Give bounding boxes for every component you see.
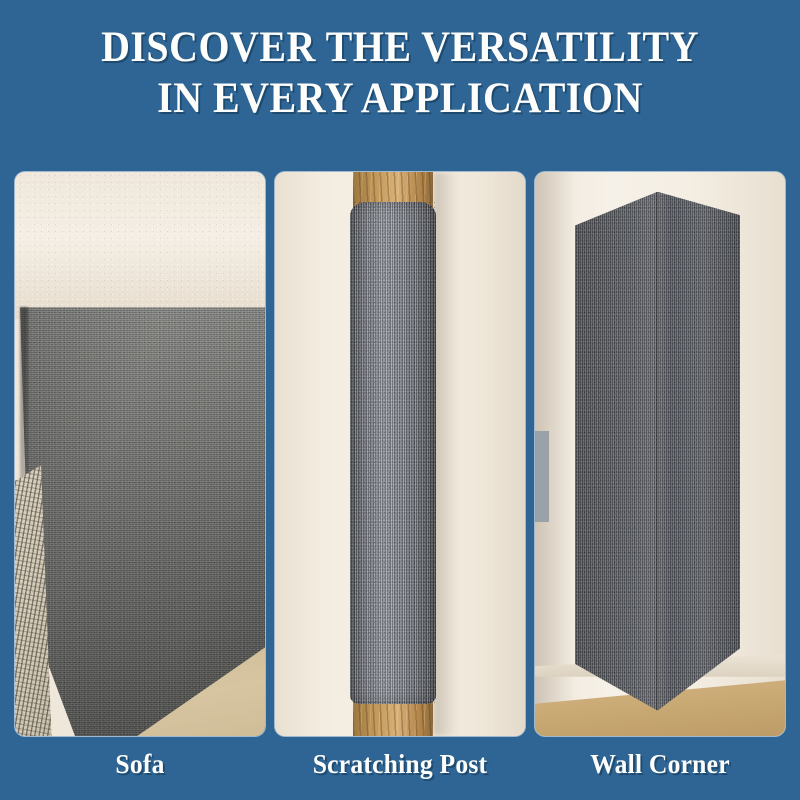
panel-sofa	[15, 172, 265, 736]
corner-fold-line	[656, 192, 659, 711]
post-cast-shadow	[433, 172, 458, 736]
panel-scratching-post	[275, 172, 525, 736]
headline-line-2: IN EVERY APPLICATION	[28, 73, 772, 124]
promo-poster: DISCOVER THE VERSATILITY IN EVERY APPLIC…	[0, 0, 800, 800]
caption-sofa: Sofa	[21, 744, 259, 790]
carpet-wrap-sleeve	[350, 202, 436, 704]
panel-captions: Sofa Scratching Post Wall Corner	[15, 744, 785, 790]
scratching-post-photo	[275, 172, 525, 736]
sofa-photo	[15, 172, 265, 736]
caption-scratching-post: Scratching Post	[281, 744, 519, 790]
caption-wall-corner: Wall Corner	[541, 744, 779, 790]
headline-line-1: DISCOVER THE VERSATILITY	[28, 22, 772, 73]
carpet-mat	[20, 307, 265, 736]
wall-corner-photo	[535, 172, 785, 736]
application-panels	[15, 172, 785, 736]
sofa-upholstery	[15, 172, 265, 319]
door-frame	[535, 431, 549, 521]
page-title: DISCOVER THE VERSATILITY IN EVERY APPLIC…	[28, 22, 772, 124]
panel-wall-corner	[535, 172, 785, 736]
corner-carpet-protector	[575, 192, 740, 711]
